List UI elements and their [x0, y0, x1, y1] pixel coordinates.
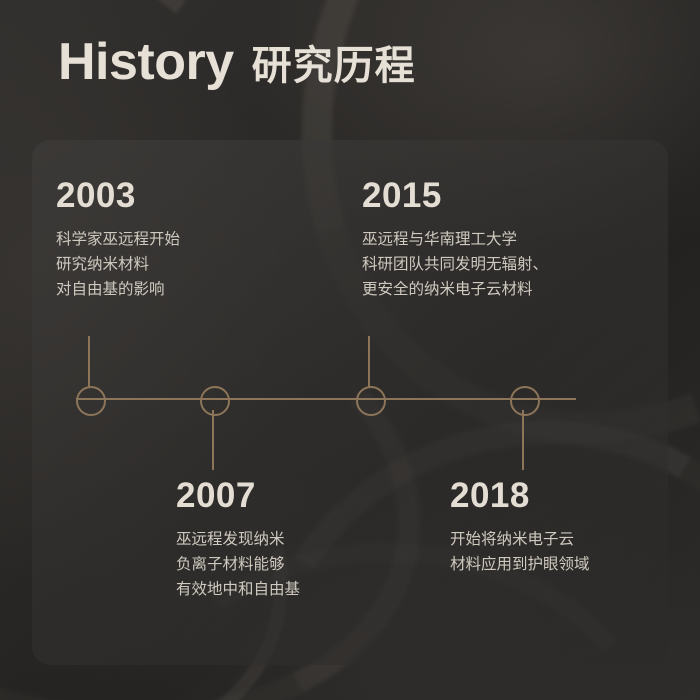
timeline-entry-2007: 2007 巫远程发现纳米 负离子材料能够 有效地中和自由基: [176, 478, 406, 602]
page-title-english: History: [58, 36, 234, 88]
timeline-node-2003[interactable]: [76, 386, 106, 416]
timeline-stem-2003: [88, 336, 90, 388]
timeline-year-2007: 2007: [176, 478, 406, 513]
slide-root: History 研究历程 2003 科学家巫远程开始 研究纳米材料 对自由基的影…: [0, 0, 700, 700]
timeline-year-2003: 2003: [56, 178, 326, 213]
timeline-description-2015: 巫远程与华南理工大学 科研团队共同发明无辐射、 更安全的纳米电子云材料: [362, 227, 652, 302]
timeline-year-2015: 2015: [362, 178, 652, 213]
timeline-entry-2003: 2003 科学家巫远程开始 研究纳米材料 对自由基的影响: [56, 178, 326, 302]
timeline-stem-2018: [522, 410, 524, 470]
timeline-entry-2018: 2018 开始将纳米电子云 材料应用到护眼领域: [450, 478, 680, 577]
page-title: History 研究历程: [58, 36, 416, 88]
timeline-description-2007: 巫远程发现纳米 负离子材料能够 有效地中和自由基: [176, 527, 406, 602]
timeline-stem-2007: [212, 410, 214, 470]
timeline-description-2018: 开始将纳米电子云 材料应用到护眼领域: [450, 527, 680, 577]
timeline-axis: [76, 398, 576, 400]
timeline-stem-2015: [368, 336, 370, 388]
timeline-entry-2015: 2015 巫远程与华南理工大学 科研团队共同发明无辐射、 更安全的纳米电子云材料: [362, 178, 652, 302]
timeline: 2003 科学家巫远程开始 研究纳米材料 对自由基的影响 2015 巫远程与华南…: [32, 140, 668, 665]
timeline-node-2007[interactable]: [200, 386, 230, 416]
timeline-year-2018: 2018: [450, 478, 680, 513]
page-title-chinese: 研究历程: [252, 46, 416, 86]
timeline-node-2018[interactable]: [510, 386, 540, 416]
timeline-description-2003: 科学家巫远程开始 研究纳米材料 对自由基的影响: [56, 227, 326, 302]
timeline-card: 2003 科学家巫远程开始 研究纳米材料 对自由基的影响 2015 巫远程与华南…: [32, 140, 668, 665]
timeline-node-2015[interactable]: [356, 386, 386, 416]
